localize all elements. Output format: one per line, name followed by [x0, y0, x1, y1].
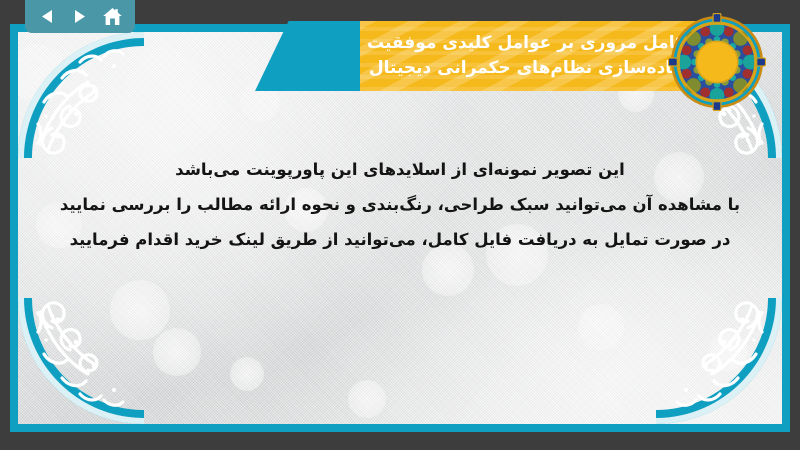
body-line: با مشاهده آن می‌توانید سبک طراحی، رنگ‌بن… [48, 187, 752, 222]
bokeh-circle [578, 304, 624, 350]
triangle-right-icon [71, 8, 88, 25]
bokeh-circle [153, 328, 201, 376]
arabesque-corner-flourish [656, 298, 782, 424]
slide-title-banner: کامل مروری بر عوامل کلیدی موفقیت در پیاد… [255, 21, 705, 91]
arabesque-corner-flourish [18, 32, 144, 158]
slide-body-text: این تصویر نمونه‌ای از اسلایدهای این پاور… [48, 152, 752, 257]
arabesque-corner-flourish [18, 298, 144, 424]
navigation-bar [25, 0, 135, 33]
slide-viewer: این تصویر نمونه‌ای از اسلایدهای این پاور… [0, 0, 800, 450]
title-banner-plate: کامل مروری بر عوامل کلیدی موفقیت در پیاد… [360, 21, 705, 91]
back-button[interactable] [34, 4, 60, 30]
triangle-left-icon [39, 8, 56, 25]
bokeh-circle [110, 280, 170, 340]
bokeh-circle [708, 332, 748, 372]
title-banner-tab [255, 21, 360, 91]
slide-title-line: کامل مروری بر عوامل کلیدی موفقیت در [360, 31, 685, 56]
home-icon [102, 7, 123, 27]
body-line: در صورت تمایل به دریافت فایل کامل، می‌تو… [48, 222, 752, 257]
bokeh-circle [18, 44, 66, 102]
bokeh-circle [348, 380, 386, 418]
home-button[interactable] [100, 4, 126, 30]
body-line: این تصویر نمونه‌ای از اسلایدهای این پاور… [48, 152, 752, 187]
forward-button[interactable] [67, 4, 93, 30]
bokeh-circle [230, 357, 264, 391]
slide-title-line: پیاده‌سازی نظام‌های حکمرانی دیجیتال [369, 56, 685, 81]
